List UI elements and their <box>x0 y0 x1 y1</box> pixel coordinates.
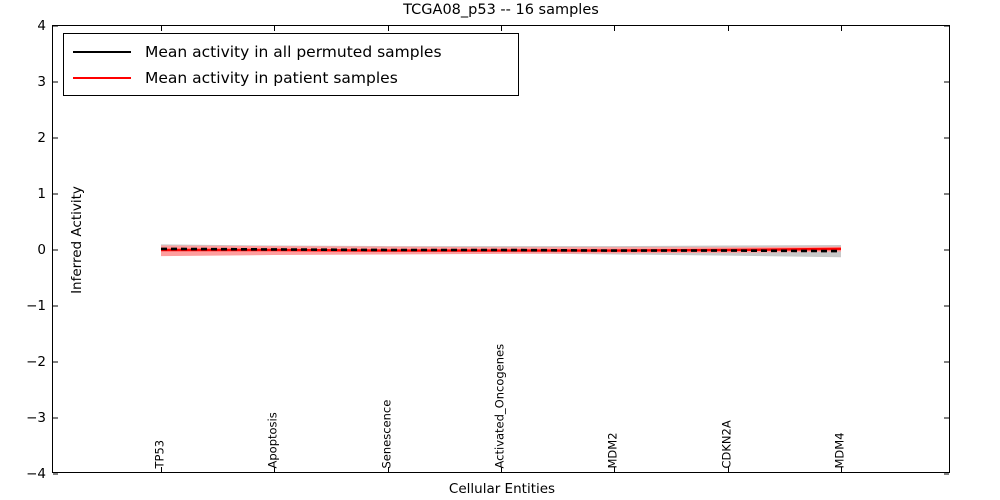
legend-label-permuted: Mean activity in all permuted samples <box>145 43 442 61</box>
y-tick-label: 2 <box>37 130 46 146</box>
y-tick-label: 1 <box>37 186 46 202</box>
y-tick-label: −3 <box>26 410 46 426</box>
y-tick-mark-right <box>944 474 949 475</box>
figure-canvas: TCGA08_p53 -- 16 samples Inferred Activi… <box>0 0 1000 500</box>
y-tick-label: 4 <box>37 18 46 34</box>
plot-area[interactable]: Inferred Activity Cellular Entities 4321… <box>52 25 950 473</box>
y-tick-mark <box>53 474 58 475</box>
legend-item-permuted[interactable]: Mean activity in all permuted samples <box>73 39 506 65</box>
legend-item-patient[interactable]: Mean activity in patient samples <box>73 65 506 91</box>
legend-label-patient: Mean activity in patient samples <box>145 69 398 87</box>
chart-title: TCGA08_p53 -- 16 samples <box>52 1 950 19</box>
y-tick-label: −4 <box>26 466 46 482</box>
y-tick-label: −1 <box>26 298 46 314</box>
x-axis-label: Cellular Entities <box>53 481 951 497</box>
chart-legend[interactable]: Mean activity in all permuted samples Me… <box>63 33 519 96</box>
legend-line-swatch-red <box>73 77 131 79</box>
legend-line-swatch-black <box>73 51 131 53</box>
y-tick-label: −2 <box>26 354 46 370</box>
y-tick-label: 0 <box>37 242 46 258</box>
y-tick-label: 3 <box>37 74 46 90</box>
